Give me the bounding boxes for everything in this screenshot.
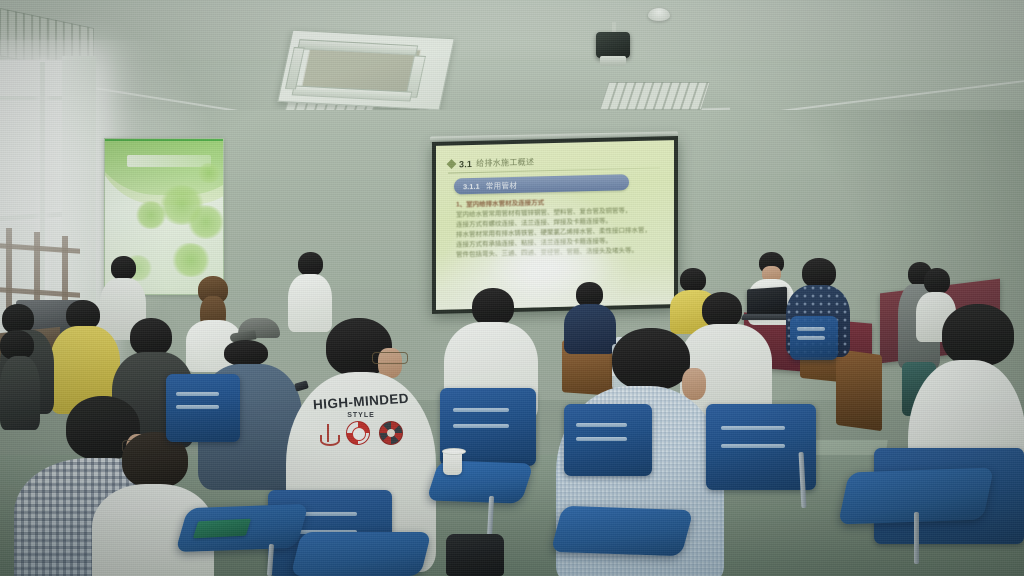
classroom-photo: 3.1 给排水施工概述 3.1.1 常用管材 1、室内给排水管材及连接方式 室内… bbox=[0, 0, 1024, 576]
leaf-icon bbox=[171, 243, 211, 277]
slide-body: 1、室内给排水管材及连接方式 室内给水管常用管材有镀锌钢管、塑料管、复合管及铜管… bbox=[456, 196, 658, 258]
person-ear-hand bbox=[682, 368, 706, 400]
chair-leg bbox=[914, 512, 919, 564]
person-head bbox=[680, 268, 706, 292]
compass-rose-icon bbox=[379, 421, 403, 445]
projector-bracket bbox=[600, 56, 626, 66]
life-ring-icon bbox=[346, 421, 370, 445]
student-yellow-shirt bbox=[50, 300, 120, 410]
person-torso bbox=[0, 356, 40, 430]
smoke-detector-icon bbox=[648, 8, 670, 21]
anchor-icon bbox=[319, 421, 337, 445]
person-head bbox=[802, 258, 836, 288]
chair-back[interactable] bbox=[166, 374, 240, 442]
slide-title-number: 3.1 bbox=[459, 159, 472, 169]
person-head bbox=[130, 318, 172, 356]
person-head bbox=[111, 256, 136, 280]
poster-title-band bbox=[127, 155, 211, 167]
leaf-icon bbox=[187, 205, 224, 239]
person-head bbox=[702, 292, 742, 328]
tablet-arm-desk[interactable] bbox=[291, 532, 432, 576]
slide-subtitle-number: 3.1.1 bbox=[463, 181, 480, 190]
cup-rim bbox=[442, 448, 466, 455]
leaf-icon bbox=[135, 201, 167, 229]
person-head bbox=[942, 304, 1014, 366]
ceiling-cassette-air-conditioner bbox=[277, 30, 454, 111]
window-mullion bbox=[0, 96, 62, 100]
projection-screen-surface: 3.1 给排水施工概述 3.1.1 常用管材 1、室内给排水管材及连接方式 室内… bbox=[436, 140, 674, 310]
leaf-icon bbox=[197, 163, 221, 183]
tablet-arm-desk[interactable] bbox=[550, 506, 693, 557]
slide-subtitle-text: 常用管材 bbox=[486, 179, 518, 191]
chair-back[interactable] bbox=[564, 404, 652, 476]
black-backpack[interactable] bbox=[446, 534, 504, 576]
person-head bbox=[924, 268, 950, 294]
person-head bbox=[224, 340, 268, 366]
student-left-foreground bbox=[0, 330, 40, 426]
tshirt-text-primary: HIGH-MINDED bbox=[313, 391, 410, 413]
white-paper-cup[interactable] bbox=[443, 450, 462, 475]
ceiling-vent-grille-icon bbox=[599, 82, 710, 110]
chair-back[interactable] bbox=[790, 316, 838, 360]
tshirt-emblems bbox=[319, 421, 403, 445]
slide-subtitle-bar: 3.1.1 常用管材 bbox=[454, 174, 629, 194]
green-notebook[interactable] bbox=[193, 519, 251, 539]
person-head bbox=[612, 328, 690, 390]
student-light-shirt-front bbox=[92, 432, 214, 576]
glasses-icon bbox=[372, 352, 408, 364]
tshirt-text-secondary: STYLE bbox=[347, 412, 375, 419]
person-head bbox=[472, 288, 514, 326]
slide-body-line: 管件包括弯头、三通、四通、变径管、管箍、活接头及堵头等。 bbox=[456, 246, 658, 258]
ceiling-projector bbox=[596, 32, 630, 58]
wooden-chair bbox=[836, 349, 882, 431]
person-head bbox=[298, 252, 323, 276]
slide-title-text: 给排水施工概述 bbox=[476, 157, 534, 169]
bullet-diamond-icon bbox=[447, 159, 457, 169]
